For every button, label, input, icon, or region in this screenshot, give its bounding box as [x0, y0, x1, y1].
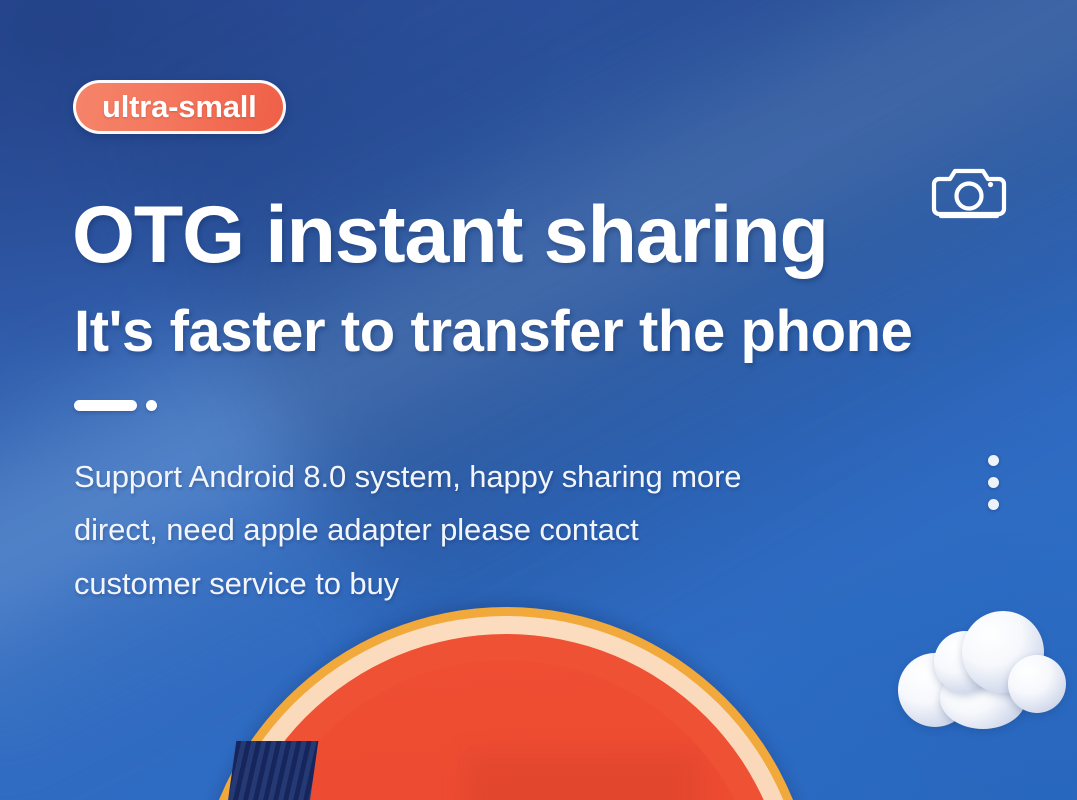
page-title: OTG instant sharing	[72, 196, 828, 275]
kebab-dot	[988, 477, 999, 488]
description-line: direct, need apple adapter please contac…	[74, 503, 904, 556]
promo-banner: ultra-small OTG instant sharing It's fas…	[0, 0, 1077, 800]
description-text: Support Android 8.0 system, happy sharin…	[74, 450, 904, 610]
camera-icon	[931, 163, 1007, 225]
dash-divider	[74, 400, 137, 411]
page-subtitle: It's faster to transfer the phone	[74, 303, 913, 361]
badge-label: ultra-small	[102, 89, 257, 125]
dot-divider	[146, 400, 157, 411]
description-line: customer service to buy	[74, 557, 904, 610]
banner-content: ultra-small OTG instant sharing It's fas…	[0, 0, 1077, 800]
dash-dot-divider	[74, 400, 157, 411]
kebab-menu-icon[interactable]	[988, 455, 999, 510]
kebab-dot	[988, 499, 999, 510]
ultra-small-badge: ultra-small	[73, 80, 286, 134]
kebab-dot	[988, 455, 999, 466]
description-line: Support Android 8.0 system, happy sharin…	[74, 450, 904, 503]
